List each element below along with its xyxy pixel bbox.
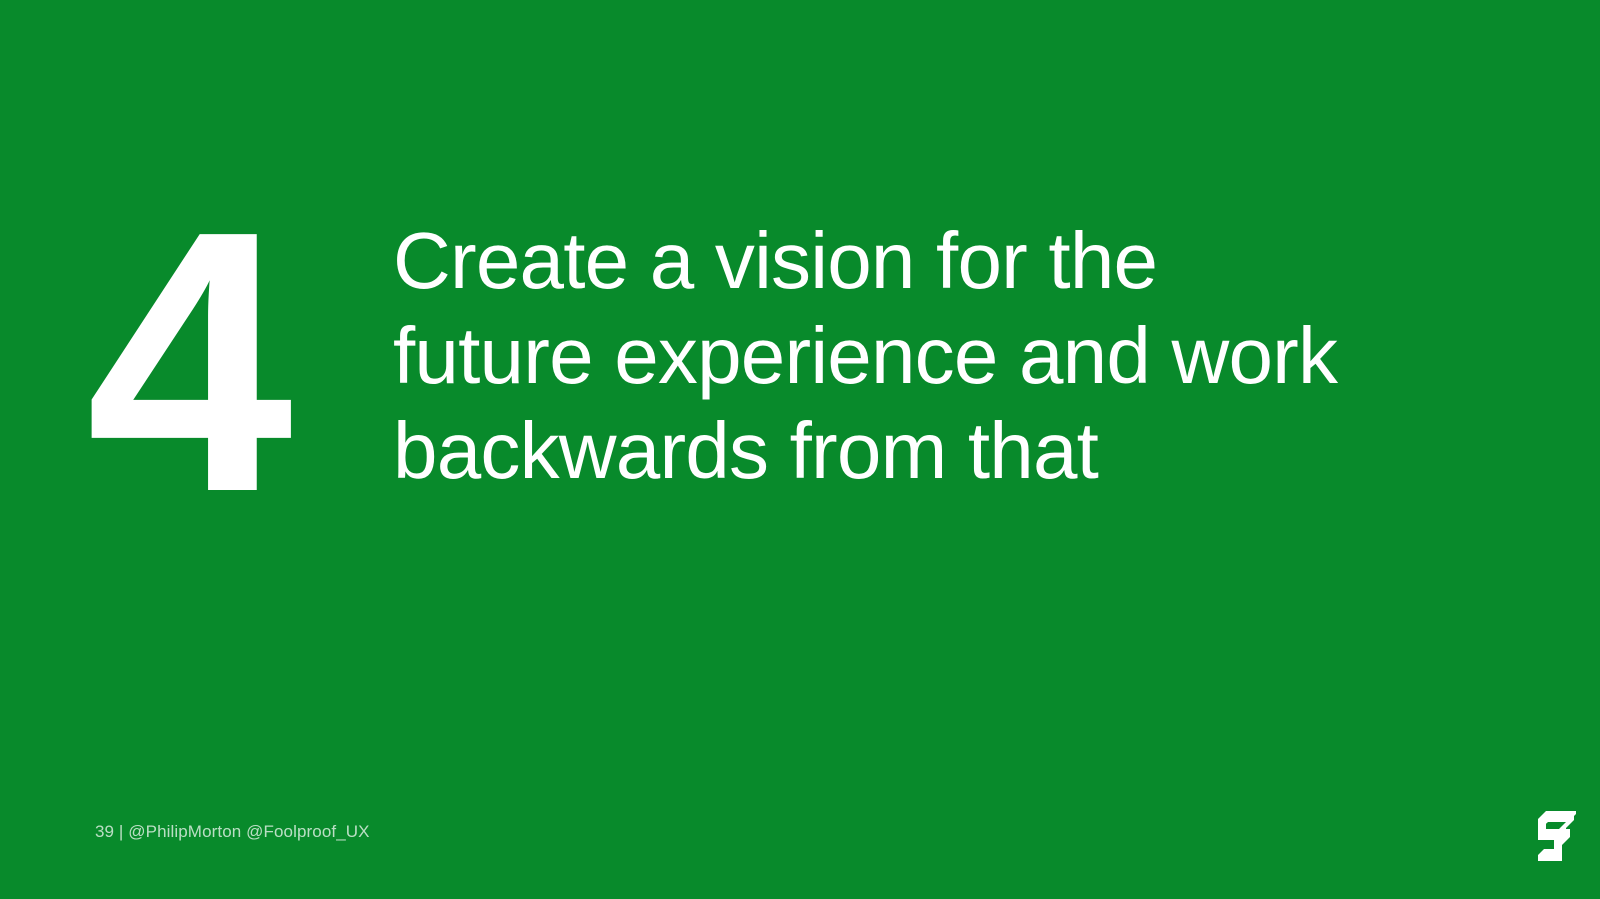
heading-line-1: Create a vision for the	[393, 213, 1463, 308]
step-number: 4	[86, 196, 326, 526]
heading-line-3: backwards from that	[393, 403, 1463, 498]
foolproof-f-logo-icon	[1532, 809, 1580, 861]
slide-footer: 39 | @PhilipMorton @Foolproof_UX	[95, 821, 370, 843]
heading-line-2: future experience and work	[393, 308, 1463, 403]
slide-canvas: 4 Create a vision for the future experie…	[0, 0, 1600, 899]
slide-heading: Create a vision for the future experienc…	[393, 213, 1463, 498]
